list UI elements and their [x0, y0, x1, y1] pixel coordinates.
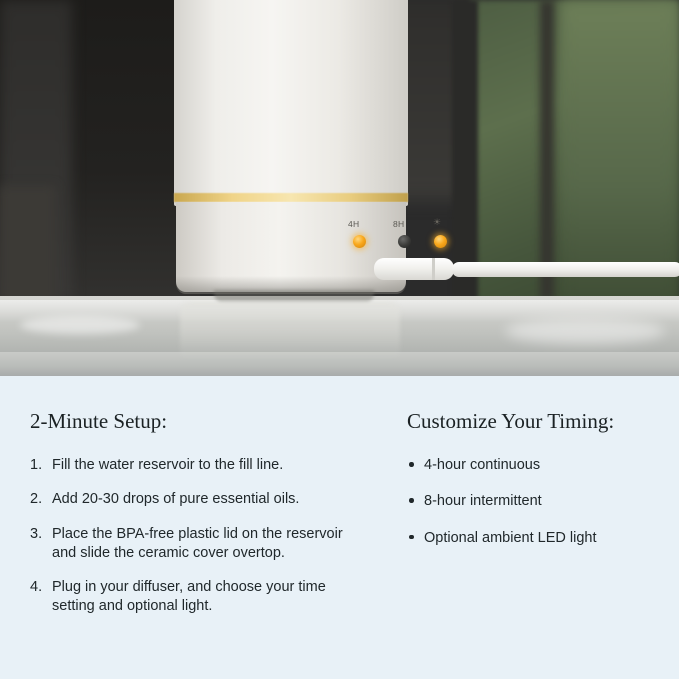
4h-button[interactable]: [353, 235, 366, 248]
list-item: 3. Place the BPA-free plastic lid on the…: [30, 525, 366, 564]
timing-options-list: 4-hour continuous 8-hour intermittent Op…: [407, 456, 657, 548]
step-number: 1.: [30, 456, 42, 475]
window-frame-right: [540, 0, 554, 300]
step-number: 3.: [30, 525, 42, 544]
setup-steps-list: 1. Fill the water reservoir to the fill …: [30, 456, 366, 617]
usb-cable-cord: [452, 262, 679, 277]
step-number: 2.: [30, 490, 42, 509]
timing-option-text: Optional ambient LED light: [424, 530, 597, 546]
countertop-highlight-right: [505, 318, 665, 344]
setup-heading: 2-Minute Setup:: [30, 409, 366, 434]
list-item: 4-hour continuous: [407, 456, 657, 475]
countertop-highlight-left: [20, 316, 140, 334]
led-light-button[interactable]: [434, 235, 447, 248]
8h-button-label: 8H: [393, 219, 404, 229]
list-item: 2. Add 20-30 drops of pure essential oil…: [30, 490, 366, 509]
list-item: 1. Fill the water reservoir to the fill …: [30, 456, 366, 475]
timing-option-text: 8-hour intermittent: [424, 493, 542, 509]
step-number: 4.: [30, 578, 42, 597]
step-text: Plug in your diffuser, and choose your t…: [52, 579, 326, 614]
step-text: Fill the water reservoir to the fill lin…: [52, 457, 283, 473]
led-light-icon: ☀: [433, 218, 441, 227]
bullet-icon: [409, 462, 414, 467]
background-cabinet: [0, 186, 55, 304]
window-frame-left: [452, 0, 478, 300]
8h-button[interactable]: [398, 235, 411, 248]
instructions-panel: 2-Minute Setup: 1. Fill the water reserv…: [0, 376, 679, 679]
usb-cable-plug: [374, 258, 454, 280]
step-text: Place the BPA-free plastic lid on the re…: [52, 526, 343, 561]
setup-column: 2-Minute Setup: 1. Fill the water reserv…: [30, 409, 366, 632]
timing-column: Customize Your Timing: 4-hour continuous…: [407, 409, 657, 565]
diffuser-foot-shadow: [214, 290, 374, 302]
bullet-icon: [409, 498, 414, 503]
diffuser-ceramic-cover: [174, 0, 408, 206]
step-text: Add 20-30 drops of pure essential oils.: [52, 491, 299, 507]
product-photo: 4H 8H ☀: [0, 0, 679, 376]
timing-option-text: 4-hour continuous: [424, 457, 540, 473]
product-instruction-graphic: 4H 8H ☀ 2-Minute Setup: 1. Fill the wate…: [0, 0, 679, 679]
usb-cable-plug-seam: [432, 258, 435, 280]
list-item: Optional ambient LED light: [407, 529, 657, 548]
list-item: 8-hour intermittent: [407, 492, 657, 511]
timing-heading: Customize Your Timing:: [407, 409, 657, 434]
diffuser-gold-accent-band: [174, 193, 408, 202]
list-item: 4. Plug in your diffuser, and choose you…: [30, 578, 366, 617]
4h-button-label: 4H: [348, 219, 359, 229]
bullet-icon: [409, 535, 414, 540]
diffuser-reflection: [180, 302, 400, 360]
